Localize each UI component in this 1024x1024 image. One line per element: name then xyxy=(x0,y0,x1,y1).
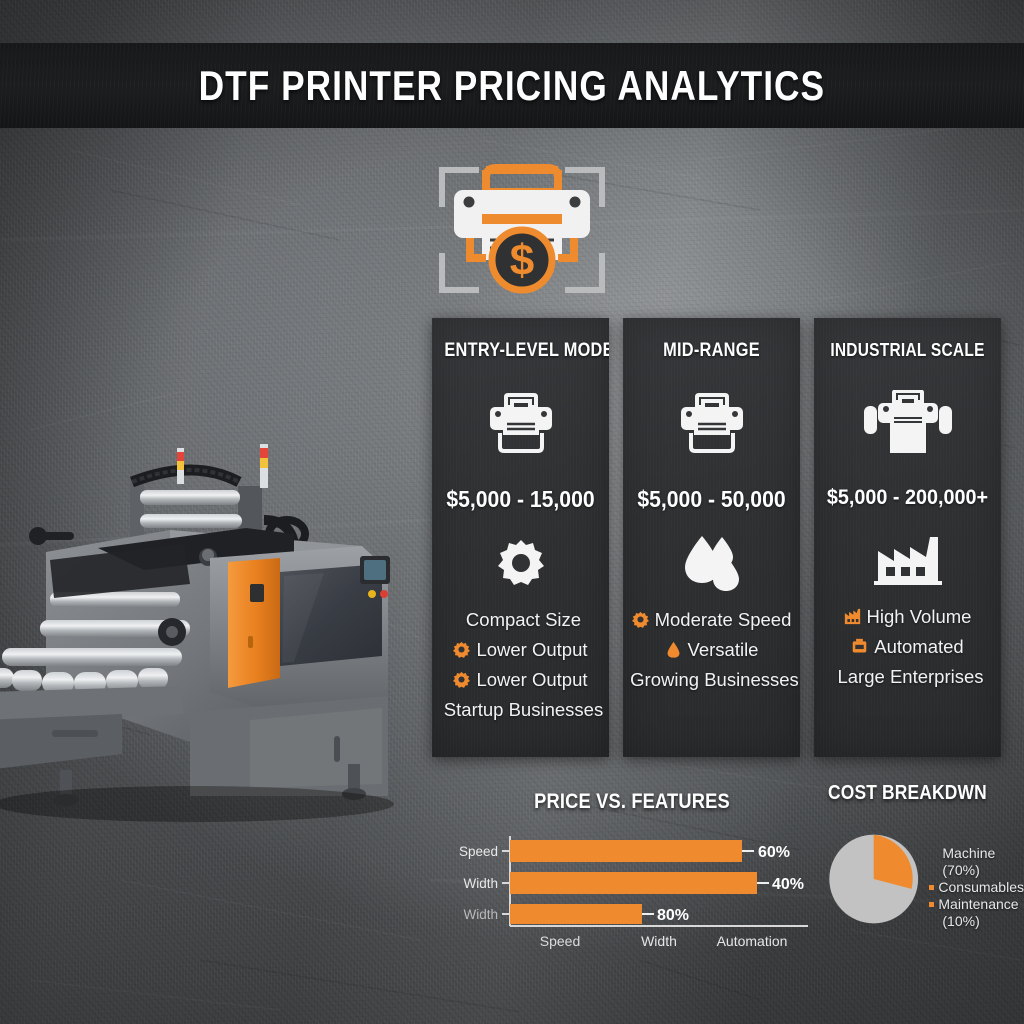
tier-sub-icon-wrap xyxy=(814,524,1001,596)
factory-icon xyxy=(874,535,942,585)
legend-item: Machine xyxy=(929,845,1024,862)
legend-item: (70%) xyxy=(929,862,1024,879)
gear-icon xyxy=(496,538,546,588)
legend-label: Maintenance xyxy=(938,896,1018,913)
feature-item: Growing Businesses xyxy=(624,665,799,694)
x-tick-label: Width xyxy=(641,933,677,949)
bar-chart-plot: Speed 60% Width 40% Width 80% Speed Widt… xyxy=(452,834,812,954)
feature-item: Large Enterprises xyxy=(831,662,983,691)
feature-label: Large Enterprises xyxy=(837,662,983,691)
factory-icon xyxy=(844,608,861,625)
page-title: DTF PRINTER PRICING ANALYTICS xyxy=(199,62,825,110)
legend-dot-icon xyxy=(929,902,934,907)
legend-item: Consumables xyxy=(929,879,1024,896)
tier-title: MID-RANGE xyxy=(635,340,787,362)
bar-ylabel: Speed xyxy=(459,844,498,859)
legend-item: (10%) xyxy=(929,913,1024,930)
pie-chart-svg xyxy=(826,821,921,937)
tier-main-icon-wrap xyxy=(432,382,609,466)
price-vs-features-chart: PRICE VS. FEATURES Speed 60% Width 40% xyxy=(452,790,812,960)
feature-item: Automated xyxy=(851,632,963,661)
x-tick-label: Automation xyxy=(717,933,788,949)
tier-price: $5,000 - 15,000 xyxy=(439,486,602,513)
x-tick-label: Speed xyxy=(540,933,580,949)
feature-item: High Volume xyxy=(844,602,972,631)
printer-icon xyxy=(484,393,558,455)
bar-ylabel: Width xyxy=(463,907,498,922)
feature-label: Versatile xyxy=(688,635,759,664)
tier-card-industrial-scale[interactable]: INDUSTRIAL SCALE $5,000 - 200,000+ xyxy=(814,318,1001,757)
infographic-canvas: DTF PRINTER PRICING ANALYTICS $ ENTRY-LE… xyxy=(0,0,1024,1024)
feature-label: High Volume xyxy=(867,602,972,631)
drop-icon xyxy=(665,641,682,658)
machine-icon xyxy=(851,638,868,655)
feature-label: Lower Output xyxy=(476,635,587,664)
tier-main-icon-wrap xyxy=(623,382,800,466)
tier-feature-list: High Volume Automated Large Enterprises xyxy=(814,602,1001,691)
feature-item: Versatile xyxy=(665,635,759,664)
cost-breakdown-chart: COST BREAKDWN Machine (70%) Consumables xyxy=(826,782,1024,960)
bar-chart-title: PRICE VS. FEATURES xyxy=(475,790,788,814)
bar-value-label: 40% xyxy=(772,876,804,893)
tier-sub-icon-wrap xyxy=(623,527,800,599)
feature-label: Moderate Speed xyxy=(655,605,792,634)
feature-label: Lower Output xyxy=(476,665,587,694)
bar-speed xyxy=(510,840,742,862)
tier-feature-list: Moderate Speed Versatile Growing Busines… xyxy=(623,605,800,694)
printer-dollar-icon: $ xyxy=(424,152,620,307)
feature-item: Startup Businesses xyxy=(438,695,603,724)
tier-title: ENTRY-LEVEL MODELS xyxy=(444,340,596,362)
ink-drops-icon xyxy=(681,534,743,592)
tier-card-entry-level[interactable]: ENTRY-LEVEL MODELS $5,000 - 15,000 Com xyxy=(432,318,609,757)
tier-feature-list: Compact Size Lower Output Lower Output S… xyxy=(432,605,609,724)
tier-price: $5,000 - 50,000 xyxy=(630,486,793,513)
feature-label: Automated xyxy=(874,632,963,661)
feature-item: Lower Output xyxy=(453,665,587,694)
tier-sub-icon-wrap xyxy=(432,527,609,599)
bar-value-label: 80% xyxy=(657,907,689,924)
legend-label: Consumables xyxy=(938,879,1024,896)
header-bar: DTF PRINTER PRICING ANALYTICS xyxy=(0,43,1024,128)
bar-value-label: 60% xyxy=(758,844,790,861)
gear-icon xyxy=(632,611,649,628)
bar-chart-svg: Speed 60% Width 40% Width 80% Speed Widt… xyxy=(452,834,812,954)
industrial-printer-photo xyxy=(0,424,426,824)
legend-dot-icon xyxy=(929,885,934,890)
tier-main-icon-wrap xyxy=(814,381,1001,465)
legend-label: Machine xyxy=(942,845,995,862)
tier-title: INDUSTRIAL SCALE xyxy=(827,340,988,361)
bar-ylabel: Width xyxy=(463,876,498,891)
printer-icon xyxy=(675,393,749,455)
feature-item: Moderate Speed xyxy=(632,605,792,634)
legend-value: (10%) xyxy=(942,913,979,930)
industrial-printer-icon xyxy=(862,390,954,456)
feature-label: Startup Businesses xyxy=(444,695,603,724)
pie-chart-body: Machine (70%) Consumables Maintenance (1… xyxy=(826,821,1024,937)
feature-item: Lower Output xyxy=(453,635,587,664)
legend-item: Maintenance xyxy=(929,896,1024,913)
legend-value: (70%) xyxy=(942,862,979,879)
bar-automation xyxy=(510,904,642,924)
tier-card-mid-range[interactable]: MID-RANGE $5,000 - 50,000 xyxy=(623,318,800,757)
pie-legend: Machine (70%) Consumables Maintenance (1… xyxy=(929,845,1024,937)
gear-icon xyxy=(453,641,470,658)
pie-chart-title: COST BREAKDWN xyxy=(828,782,999,805)
svg-text:$: $ xyxy=(510,236,534,285)
feature-item: Compact Size xyxy=(460,605,581,634)
gear-icon xyxy=(453,671,470,688)
tier-price: $5,000 - 200,000+ xyxy=(821,485,993,510)
bar-width xyxy=(510,872,757,894)
feature-label: Growing Businesses xyxy=(630,665,799,694)
feature-label: Compact Size xyxy=(466,605,581,634)
